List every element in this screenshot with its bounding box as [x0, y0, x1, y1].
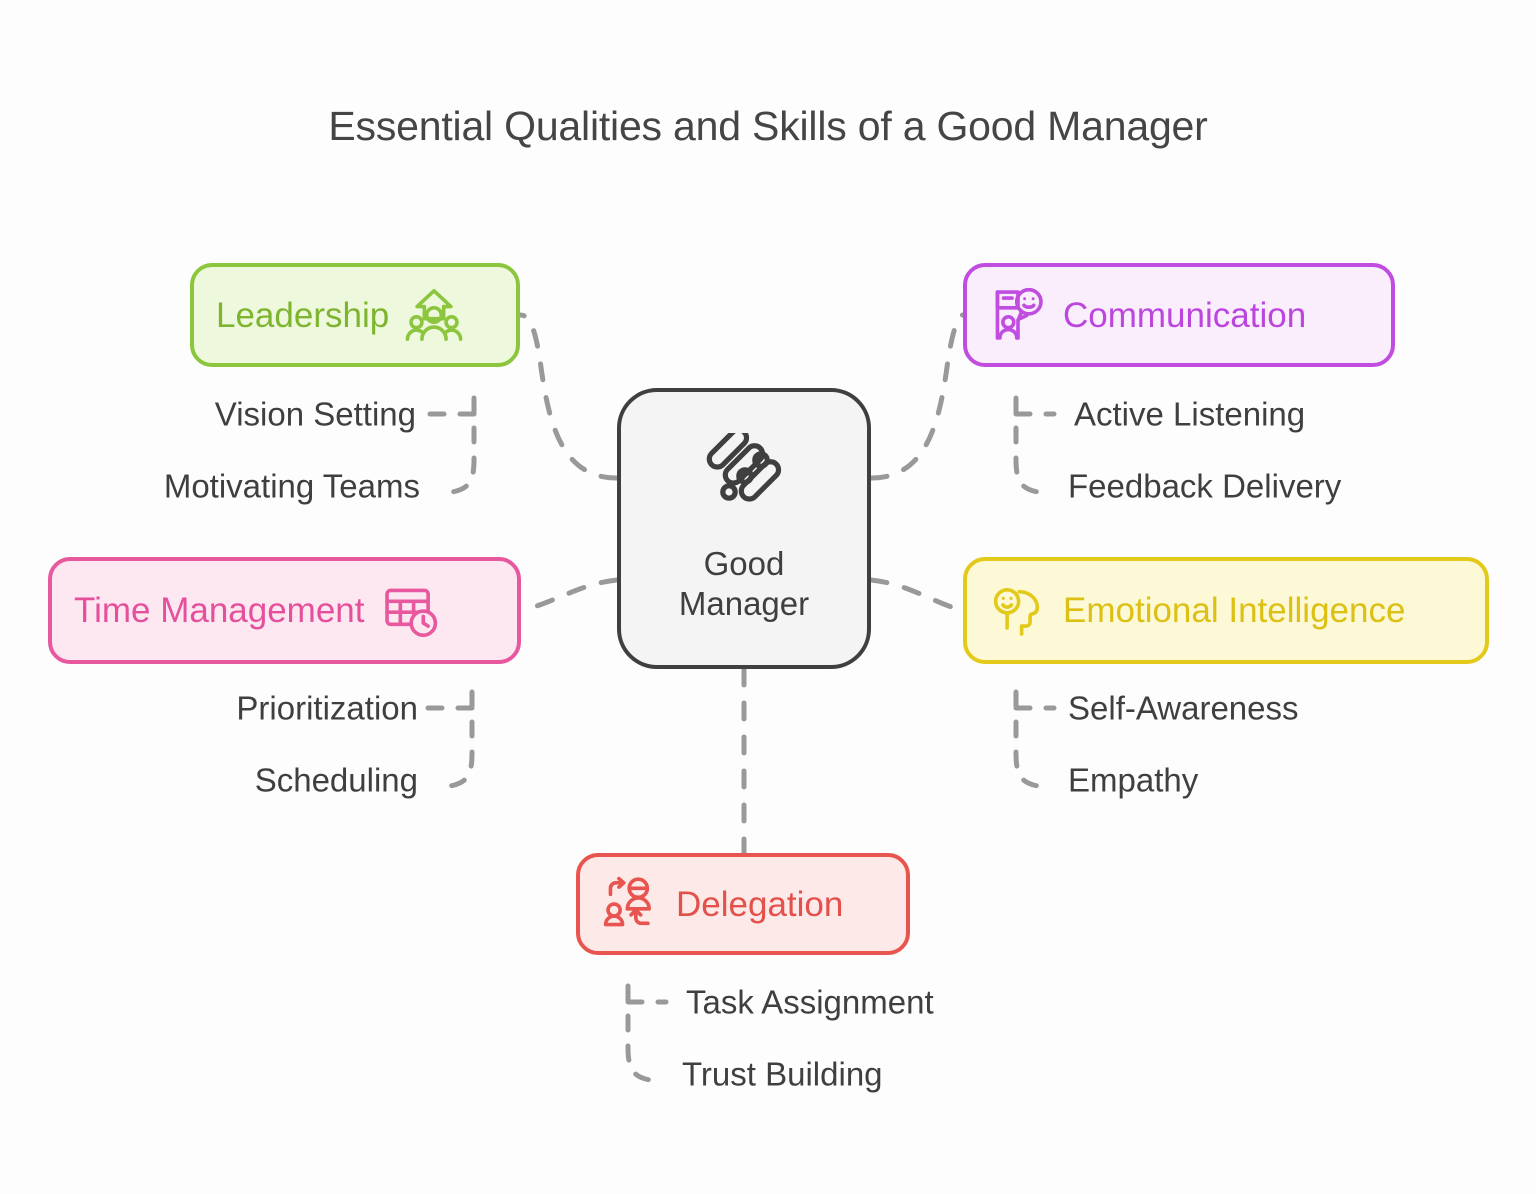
branch-label-time-management: Time Management [74, 593, 365, 628]
connector-time-children [450, 692, 472, 786]
branch-node-time-management[interactable]: Time Management [48, 557, 521, 664]
equalizer-sliders-icon [696, 433, 792, 534]
connector-center-leadership [520, 315, 617, 478]
sub-label-active-listening: Active Listening [1074, 398, 1305, 431]
page-title: Essential Qualities and Skills of a Good… [0, 103, 1536, 150]
connector-delegation-children [628, 986, 650, 1080]
people-exchange-arrows-icon [602, 875, 660, 933]
sub-label-empathy: Empathy [1068, 764, 1198, 797]
sub-label-trust-building: Trust Building [682, 1058, 883, 1091]
connector-center-ei [871, 580, 963, 611]
connector-center-time [521, 580, 617, 611]
branch-label-delegation: Delegation [676, 887, 843, 922]
calendar-clock-icon [381, 582, 439, 640]
branch-node-leadership[interactable]: Leadership [190, 263, 520, 367]
head-smiley-icon [989, 582, 1047, 640]
center-node-label: Good Manager [679, 544, 809, 625]
branch-node-delegation[interactable]: Delegation [576, 853, 910, 955]
sub-label-scheduling: Scheduling [255, 764, 418, 797]
sub-label-feedback-delivery: Feedback Delivery [1068, 470, 1341, 503]
sub-label-prioritization: Prioritization [236, 692, 418, 725]
mindmap-canvas: Essential Qualities and Skills of a Good… [0, 0, 1536, 1194]
connector-leadership-children [452, 398, 474, 492]
branch-node-communication[interactable]: Communication [963, 263, 1395, 367]
connector-ei-children [1016, 692, 1038, 786]
branch-label-emotional-intelligence: Emotional Intelligence [1063, 593, 1405, 628]
sub-label-motivating-teams: Motivating Teams [164, 470, 420, 503]
people-growth-arrow-icon [405, 286, 463, 344]
sub-label-vision-setting: Vision Setting [215, 398, 416, 431]
connector-center-communication [871, 315, 963, 478]
branch-label-leadership: Leadership [216, 298, 389, 333]
connector-communication-children [1016, 398, 1038, 492]
sub-label-self-awareness: Self-Awareness [1068, 692, 1299, 725]
branch-label-communication: Communication [1063, 298, 1306, 333]
branch-node-emotional-intelligence[interactable]: Emotional Intelligence [963, 557, 1489, 664]
sub-label-task-assignment: Task Assignment [686, 986, 934, 1019]
center-node-good-manager[interactable]: Good Manager [617, 388, 871, 669]
presenter-speech-bubble-icon [989, 286, 1047, 344]
